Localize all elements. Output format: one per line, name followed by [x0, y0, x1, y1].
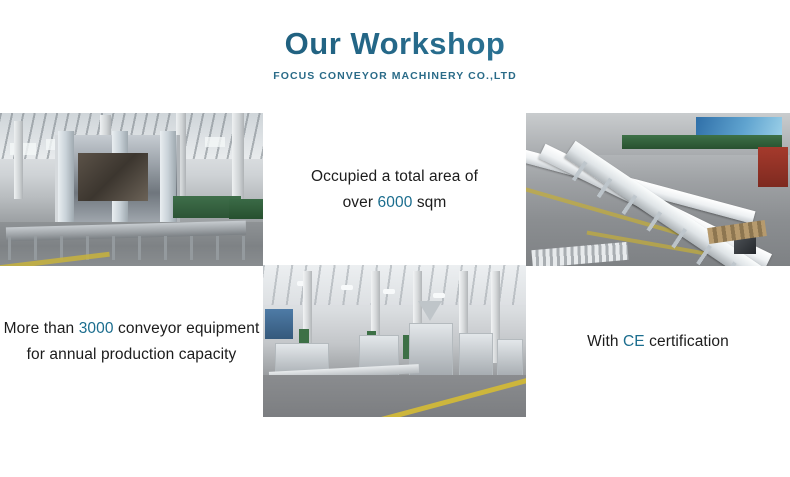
panel-area-line2-prefix: over — [343, 194, 378, 211]
panel-area-highlight: 6000 — [378, 194, 413, 211]
forklift — [758, 147, 788, 187]
photo-factory-line — [0, 113, 263, 266]
machine-internals — [78, 153, 148, 201]
factory-floor — [263, 375, 526, 417]
support-pillar — [14, 121, 23, 199]
panel-area: Occupied a total area of over 6000 sqm — [263, 113, 526, 266]
panel-capacity: More than 3000 conveyor equipment for an… — [0, 266, 263, 417]
panel-capacity-highlight: 3000 — [79, 320, 114, 337]
panel-certification: With CE certification — [526, 266, 790, 417]
window-pane — [205, 137, 225, 147]
photo-conveyor-warehouse — [526, 113, 790, 266]
ceiling-lamp — [383, 289, 395, 294]
conveyor-legs — [8, 236, 246, 260]
panel-capacity-line1-prefix: More than — [4, 320, 79, 337]
ceiling-lamp — [433, 293, 445, 298]
panel-certification-text: With CE certification — [587, 329, 729, 354]
panel-certification-suffix: certification — [645, 333, 729, 350]
workshop-slide: Our Workshop FOCUS CONVEYOR MACHINERY CO… — [0, 0, 790, 477]
panel-area-line2-suffix: sqm — [412, 194, 446, 211]
panel-capacity-line1-suffix: conveyor equipment — [114, 320, 260, 337]
panel-capacity-line1: More than 3000 conveyor equipment — [4, 316, 260, 341]
ceiling-lamp — [341, 285, 353, 290]
photo-bottling-line — [263, 265, 526, 417]
panel-certification-prefix: With — [587, 333, 623, 350]
green-workbench — [229, 199, 263, 219]
panel-capacity-line2: for annual production capacity — [27, 342, 237, 367]
page-title: Our Workshop — [0, 28, 790, 61]
page-header: Our Workshop FOCUS CONVEYOR MACHINERY CO… — [0, 28, 790, 82]
panel-area-line1: Occupied a total area of — [311, 164, 478, 189]
blue-equipment — [265, 309, 293, 339]
company-subtitle: FOCUS CONVEYOR MACHINERY CO.,LTD — [0, 70, 790, 82]
panel-certification-highlight: CE — [623, 333, 645, 350]
panel-area-line2: over 6000 sqm — [343, 190, 447, 215]
funnel-hopper — [418, 301, 442, 321]
